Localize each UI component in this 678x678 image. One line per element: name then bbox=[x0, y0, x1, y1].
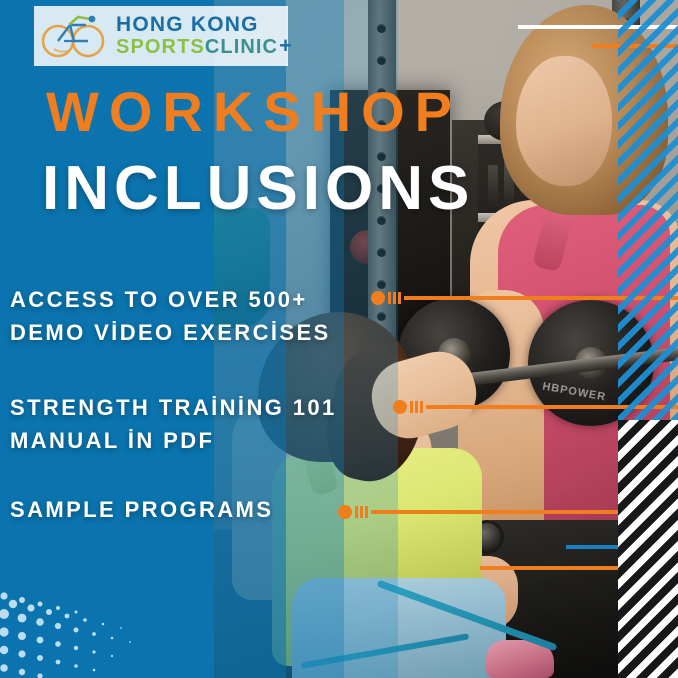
inclusion-line: MANUAL İN PDF bbox=[10, 425, 337, 458]
brand-plus-icon: + bbox=[279, 35, 293, 58]
page-title-inclusions: INCLUSIONS bbox=[42, 158, 474, 220]
brand-sports-word: SPORTS bbox=[116, 37, 205, 58]
inclusion-line: SAMPLE PROGRAMS bbox=[10, 494, 273, 527]
inclusion-item-strength-manual: STRENGTH TRAİNİNG 101 MANUAL İN PDF bbox=[10, 392, 337, 457]
cyclist-logo-icon bbox=[40, 11, 110, 61]
bullet-ticks-icon bbox=[388, 292, 401, 304]
halftone-dots-icon bbox=[0, 518, 170, 678]
brand-logo[interactable]: HONG KONG SPORTS CLINIC + bbox=[34, 6, 288, 66]
bullet-ticks-icon bbox=[410, 401, 423, 413]
brand-wordmark: HONG KONG SPORTS CLINIC + bbox=[116, 14, 293, 59]
coach-face bbox=[516, 56, 612, 186]
brand-line-2: SPORTS CLINIC + bbox=[116, 35, 293, 58]
workshop-inclusions-poster: 5 KG HBPOWER bbox=[0, 0, 678, 678]
inclusion-line: STRENGTH TRAİNİNG 101 bbox=[10, 392, 337, 425]
inclusion-item-demo-videos: ACCESS TO OVER 500+ DEMO VİDEO EXERCİSES bbox=[10, 284, 331, 349]
inclusion-item-sample-programs: SAMPLE PROGRAMS bbox=[10, 494, 273, 527]
page-title-workshop: WORKSHOP bbox=[46, 84, 462, 140]
bullet-dot-icon bbox=[393, 400, 407, 414]
bullet-ticks-icon bbox=[355, 506, 368, 518]
decor-diagonal-stripes-dark bbox=[618, 420, 678, 678]
bullet-dot-icon bbox=[371, 291, 385, 305]
inclusion-line: DEMO VİDEO EXERCİSES bbox=[10, 317, 331, 350]
bullet-dot-icon bbox=[338, 505, 352, 519]
brand-clinic-word: CLINIC bbox=[205, 37, 278, 58]
decor-diagonal-stripes-blue bbox=[618, 0, 678, 420]
inclusion-line: ACCESS TO OVER 500+ bbox=[10, 284, 331, 317]
brand-line-1: HONG KONG bbox=[116, 14, 293, 36]
